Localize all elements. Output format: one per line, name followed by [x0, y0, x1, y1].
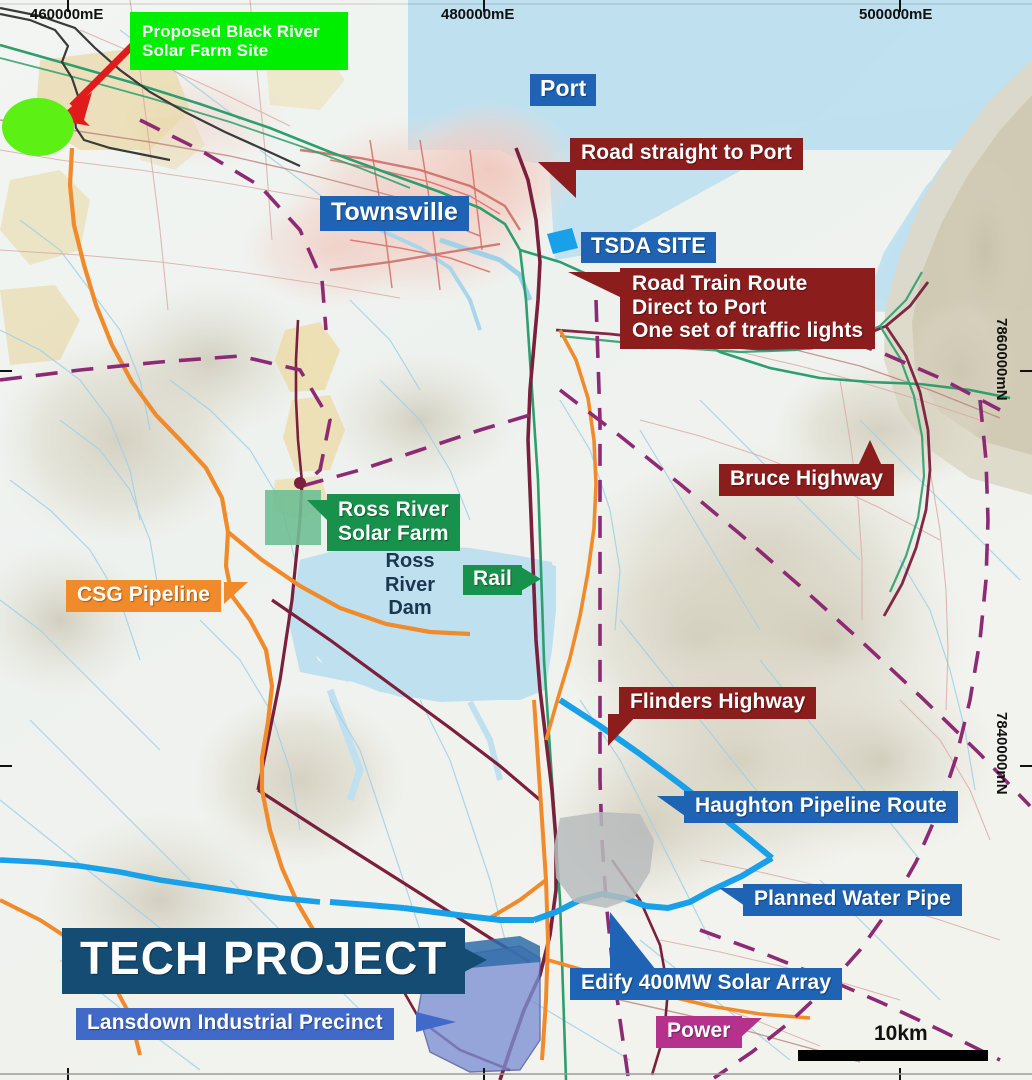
- scale-bar-label: 10km: [874, 1022, 928, 1046]
- callout-haughton-pipeline-route: Haughton Pipeline Route: [684, 791, 958, 823]
- callout-tail-ross-river-solar-farm: [307, 500, 329, 522]
- callout-road-straight-to-port: Road straight to Port: [570, 138, 803, 170]
- base-map: [0, 0, 1032, 1080]
- callout-tail-road-train-route: [568, 272, 622, 298]
- callout-ross-river-solar-farm: Ross River Solar Farm: [327, 494, 460, 551]
- callout-tail-csg-pipeline: [224, 582, 248, 604]
- callout-lansdown-industrial-precinct: Lansdown Industrial Precinct: [76, 1008, 394, 1040]
- callout-tech-project: TECH PROJECT: [62, 928, 465, 994]
- callout-planned-water-pipe: Planned Water Pipe: [743, 884, 962, 916]
- callout-tail-bruce-highway: [858, 440, 882, 466]
- label-ross-river-dam: Ross River Dam: [375, 550, 445, 621]
- callout-edify-solar-array: Edify 400MW Solar Array: [570, 968, 842, 1000]
- callout-tail-planned-water-pipe: [719, 888, 745, 906]
- grid-label-northing-2: 7840000mN: [993, 712, 1010, 795]
- callout-townsville: Townsville: [320, 196, 469, 231]
- callout-tail-rail: [521, 567, 541, 591]
- callout-tail-haughton-pipeline-route: [657, 796, 685, 816]
- grid-label-easting-2: 480000mE: [441, 6, 514, 23]
- grid-label-northing-1: 7860000mN: [993, 318, 1010, 401]
- callout-tail-road-straight-to-port: [538, 162, 576, 198]
- callout-bruce-highway: Bruce Highway: [719, 464, 894, 496]
- grid-label-easting-1: 460000mE: [30, 6, 103, 23]
- proposed-site-highlight: [2, 98, 74, 156]
- callout-tail-lansdown-industrial-precinct: [416, 1012, 456, 1032]
- grid-label-northing-3: 500000mE: [859, 6, 932, 23]
- callout-tail-power: [740, 1018, 762, 1038]
- callout-tail-tech-project: [449, 940, 487, 980]
- map-figure: 460000mE 480000mE 500000mE 7860000mN 784…: [0, 0, 1032, 1080]
- callout-csg-pipeline: CSG Pipeline: [66, 580, 221, 612]
- callout-tail-edify-solar-array: [610, 912, 656, 970]
- callout-flinders-highway: Flinders Highway: [619, 687, 816, 719]
- callout-power: Power: [656, 1016, 742, 1048]
- callout-road-train-route: Road Train Route Direct to Port One set …: [620, 268, 875, 349]
- callout-rail: Rail: [463, 565, 522, 595]
- scale-bar-line: [798, 1050, 988, 1061]
- callout-tsda-site: TSDA SITE: [581, 232, 716, 263]
- scale-bar: 10km: [798, 1022, 988, 1066]
- callout-proposed-black-river-solar-farm: Proposed Black River Solar Farm Site: [130, 12, 348, 70]
- callout-port: Port: [530, 74, 596, 106]
- callout-tail-flinders-highway: [608, 714, 638, 746]
